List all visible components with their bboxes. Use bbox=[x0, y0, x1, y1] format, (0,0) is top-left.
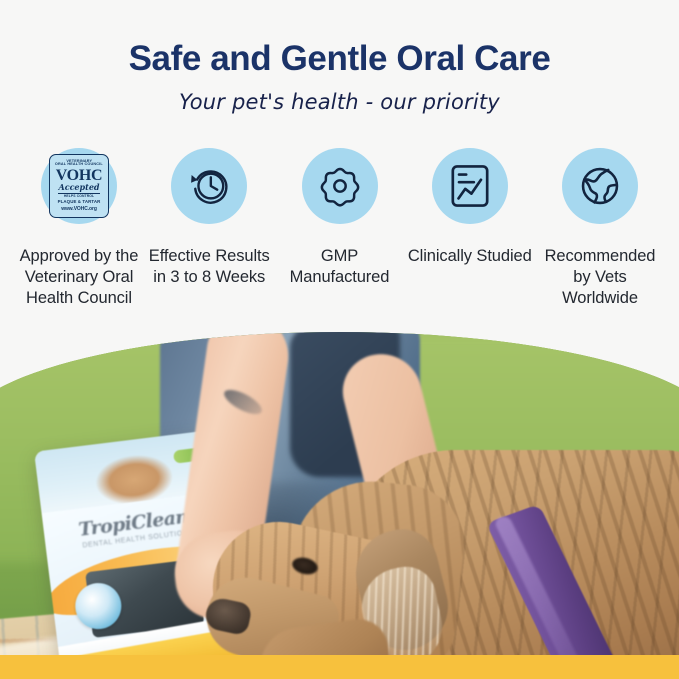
badge-vohc-approved: VETERINARY ORAL HEALTH COUNCIL VOHC Acce… bbox=[14, 148, 144, 309]
infographic-page: Safe and Gentle Oral Care Your pet's hea… bbox=[0, 0, 679, 679]
badge-clinically-studied: Clinically Studied bbox=[405, 148, 535, 267]
hero-photo-scene: TropiClean DENTAL HEALTH SOLUTION bbox=[0, 332, 679, 655]
badge-circle: VETERINARY ORAL HEALTH COUNCIL VOHC Acce… bbox=[41, 148, 117, 224]
globe-icon bbox=[578, 164, 622, 208]
badge-label: GMP Manufactured bbox=[275, 246, 405, 288]
badge-circle bbox=[562, 148, 638, 224]
badge-circle bbox=[432, 148, 508, 224]
hero-photo: TropiClean DENTAL HEALTH SOLUTION bbox=[0, 332, 679, 655]
badge-label: Effective Results in 3 to 8 Weeks bbox=[144, 246, 274, 288]
badge-circle bbox=[171, 148, 247, 224]
vohc-seal-url: www.VOHC.org bbox=[61, 207, 97, 212]
clock-history-icon bbox=[187, 164, 231, 208]
benefit-badge-row: VETERINARY ORAL HEALTH COUNCIL VOHC Acce… bbox=[14, 148, 665, 309]
page-subtitle: Your pet's health - our priority bbox=[0, 88, 679, 116]
bottom-accent-bar bbox=[0, 655, 679, 679]
vohc-seal-icon: VETERINARY ORAL HEALTH COUNCIL VOHC Acce… bbox=[49, 154, 109, 218]
badge-circle bbox=[302, 148, 378, 224]
badge-label: Approved by the Veterinary Oral Health C… bbox=[14, 246, 144, 309]
vohc-seal-top-line-2: ORAL HEALTH COUNCIL bbox=[55, 163, 103, 167]
page-title: Safe and Gentle Oral Care bbox=[0, 38, 679, 80]
badge-label: Recommended by Vets Worldwide bbox=[535, 246, 665, 309]
badge-effective-results: Effective Results in 3 to 8 Weeks bbox=[144, 148, 274, 288]
vohc-seal-script: Accepted bbox=[58, 183, 99, 191]
badge-gmp-manufactured: GMP Manufactured bbox=[275, 148, 405, 288]
chart-document-icon bbox=[449, 163, 491, 209]
badge-label: Clinically Studied bbox=[408, 246, 532, 267]
gear-icon bbox=[318, 164, 362, 208]
badge-recommended-worldwide: Recommended by Vets Worldwide bbox=[535, 148, 665, 309]
vohc-seal-sub-line-2: PLAQUE & TARTAR bbox=[58, 200, 101, 204]
hero-photo-mask: TropiClean DENTAL HEALTH SOLUTION bbox=[0, 332, 679, 655]
